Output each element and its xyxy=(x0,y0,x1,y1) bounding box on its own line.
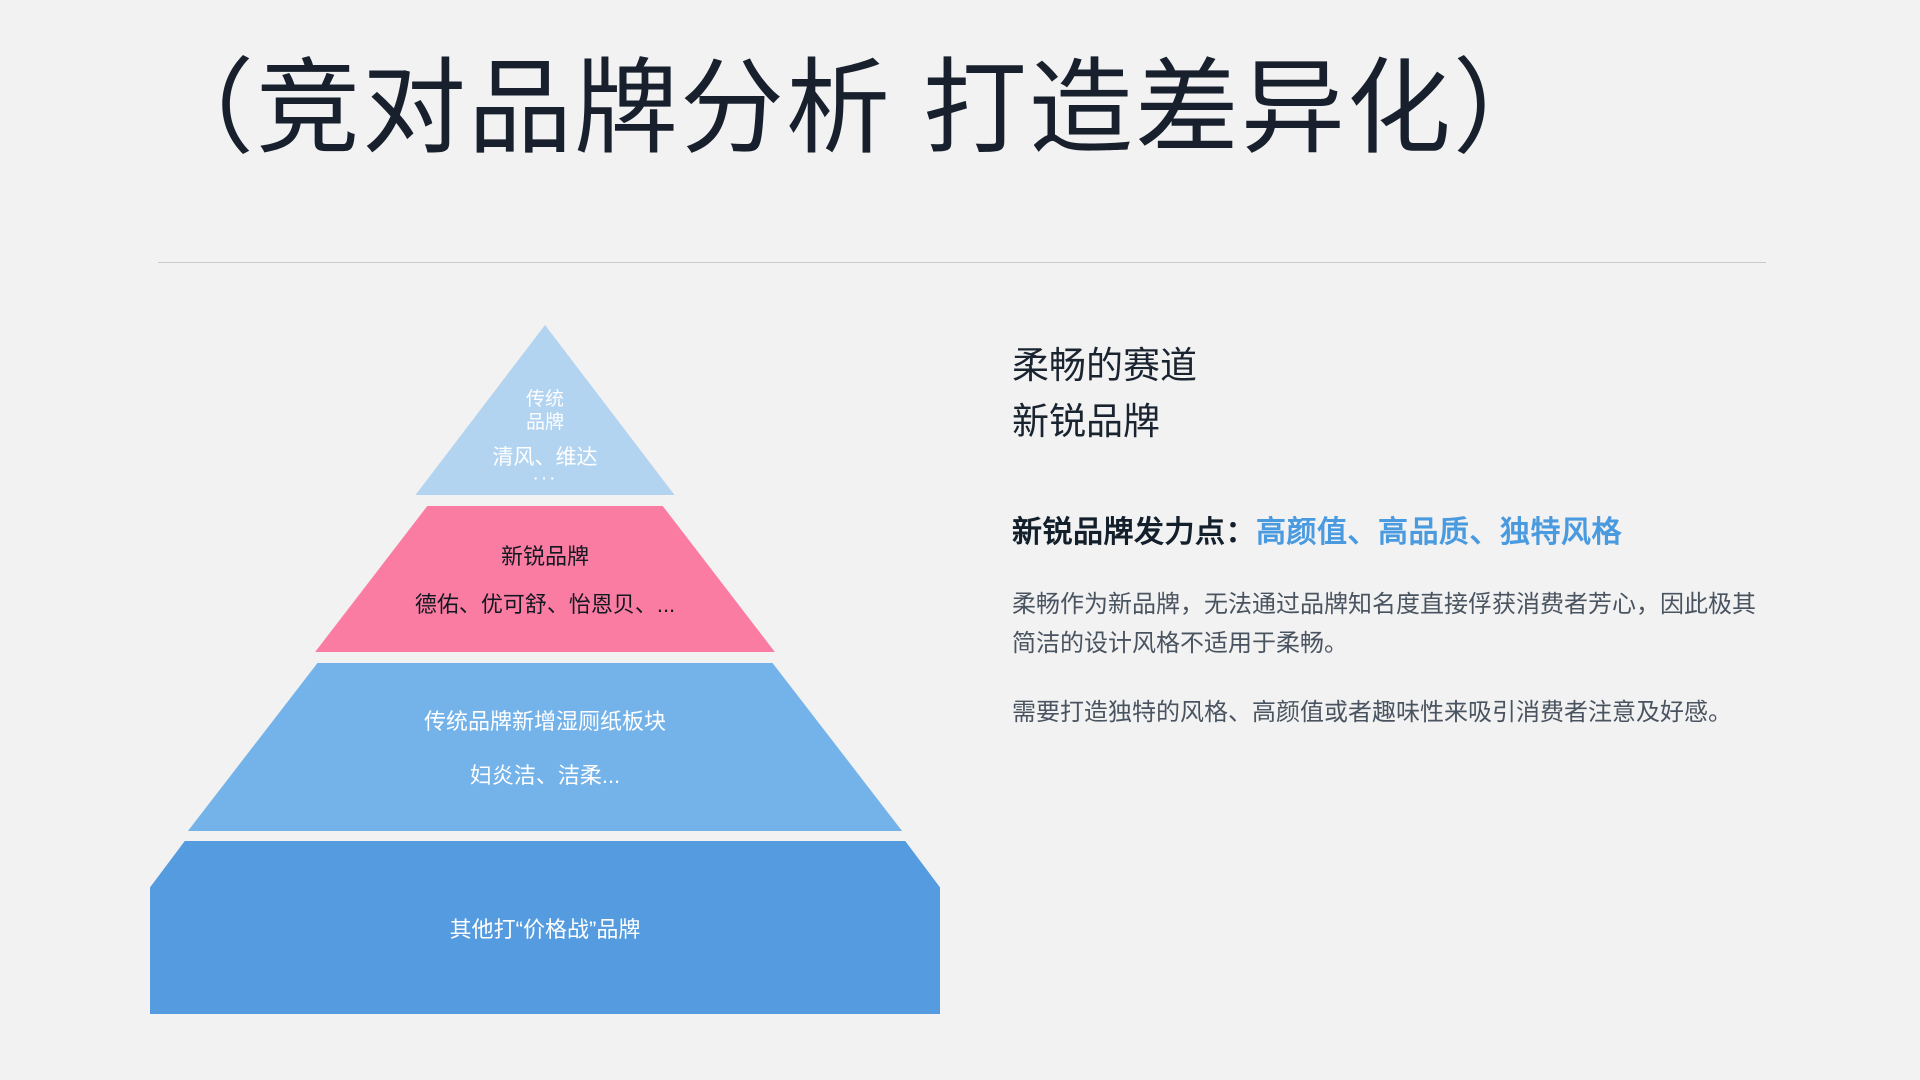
lede-heading: 柔畅的赛道 新锐品牌 xyxy=(1012,338,1772,450)
focus-points-values: 高颜值、高品质、独特风格 xyxy=(1256,516,1622,549)
pyramid-tier-emerging-brands: 新锐品牌 德佑、优可舒、怡恩贝、... xyxy=(150,506,940,652)
lede-line-1: 柔畅的赛道 xyxy=(1012,338,1772,394)
page-title: （竞对品牌分析 打造差异化） xyxy=(150,48,1770,171)
tier-2-brands: 德佑、优可舒、怡恩贝、... xyxy=(415,587,675,619)
tier-2-label: 新锐品牌 xyxy=(501,539,589,571)
pyramid-tier-traditional-new-category: 传统品牌新增湿厕纸板块 妇炎洁、洁柔... xyxy=(150,663,940,831)
tier-1-brands: 清风、维达 xyxy=(493,441,598,471)
tier-4-label: 其他打“价格战”品牌 xyxy=(450,912,641,944)
slide-canvas: （竞对品牌分析 打造差异化） 传统 品牌 清风、维达 ··· 新锐品牌 德佑、优… xyxy=(0,0,1920,1080)
focus-points-label: 新锐品牌发力点： xyxy=(1012,516,1256,549)
tier-1-label-line-1: 传统 xyxy=(526,388,564,411)
focus-points-line: 新锐品牌发力点：高颜值、高品质、独特风格 xyxy=(1012,512,1772,554)
trapezoid-shape-tier-3 xyxy=(150,663,940,831)
body-paragraph-1: 柔畅作为新品牌，无法通过品牌知名度直接俘获消费者芳心，因此极其简洁的设计风格不适… xyxy=(1012,586,1764,664)
tier-3-brands: 妇炎洁、洁柔... xyxy=(470,758,620,790)
body-paragraph-2: 需要打造独特的风格、高颜值或者趣味性来吸引消费者注意及好感。 xyxy=(1012,694,1764,733)
tier-1-ellipsis: ··· xyxy=(533,471,558,486)
pyramid-tier-price-war-brands: 其他打“价格战”品牌 xyxy=(150,841,940,1014)
tier-1-label-line-2: 品牌 xyxy=(526,411,564,434)
brand-pyramid-diagram: 传统 品牌 清风、维达 ··· 新锐品牌 德佑、优可舒、怡恩贝、... 传统品牌… xyxy=(150,325,940,1015)
title-block: （竞对品牌分析 打造差异化） xyxy=(150,48,1770,171)
lede-line-2: 新锐品牌 xyxy=(1012,394,1772,450)
content-panel: 柔畅的赛道 新锐品牌 新锐品牌发力点：高颜值、高品质、独特风格 柔畅作为新品牌，… xyxy=(1012,338,1772,733)
tier-3-label: 传统品牌新增湿厕纸板块 xyxy=(424,704,666,736)
title-divider xyxy=(158,262,1766,263)
pyramid-tier-traditional-brands: 传统 品牌 清风、维达 ··· xyxy=(150,325,940,495)
trapezoid-shape-tier-2 xyxy=(150,506,940,652)
